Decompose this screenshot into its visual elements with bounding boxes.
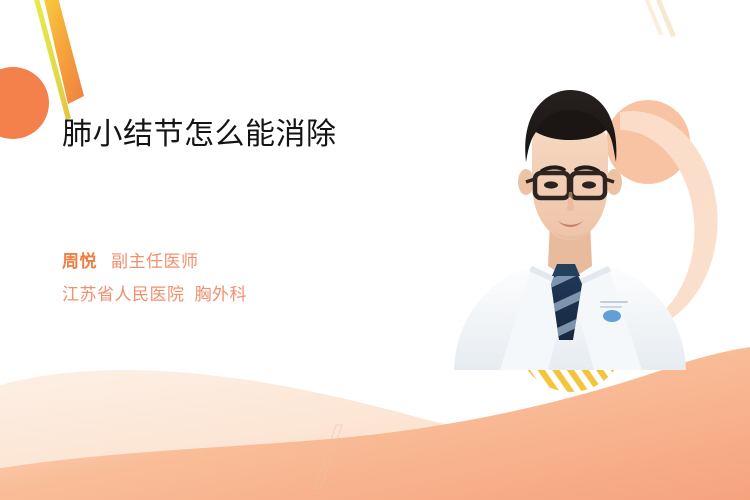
headline-block: 肺小结节怎么能消除: [62, 114, 407, 156]
doctor-affiliation-row: 江苏省人民医院胸外科: [62, 281, 402, 309]
doctor-title: 副主任医师: [111, 252, 199, 271]
doctor-department: 胸外科: [195, 285, 248, 304]
doctor-name-row: 周悦副主任医师: [62, 248, 402, 276]
doctor-hospital: 江苏省人民医院: [62, 285, 185, 304]
page-title: 肺小结节怎么能消除: [62, 114, 407, 156]
card-content: 肺小结节怎么能消除 周悦副主任医师 江苏省人民医院胸外科: [0, 0, 750, 500]
doctor-info-block: 周悦副主任医师 江苏省人民医院胸外科: [62, 248, 402, 309]
doctor-info-card: 肺小结节怎么能消除 周悦副主任医师 江苏省人民医院胸外科: [0, 0, 750, 500]
doctor-name: 周悦: [62, 252, 97, 271]
